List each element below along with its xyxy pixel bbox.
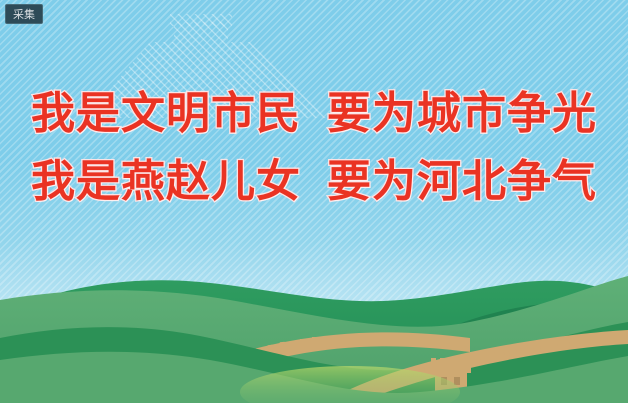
slogan-line-2: 我是燕赵儿女要为河北争气 (0, 160, 628, 204)
slogan-block: 我是文明市民要为城市争光 我是燕赵儿女要为河北争气 (0, 92, 628, 204)
slogan-line-1-left: 我是文明市民 (31, 88, 301, 139)
slogan-line-2-right: 要为河北争气 (327, 156, 597, 207)
capture-button[interactable]: 采集 (5, 4, 43, 24)
slogan-line-2-left: 我是燕赵儿女 (31, 156, 301, 207)
slogan-line-1-right: 要为城市争光 (327, 88, 597, 139)
slogan-line-1: 我是文明市民要为城市争光 (0, 92, 628, 136)
propaganda-banner: 我是文明市民要为城市争光 我是燕赵儿女要为河北争气 采集 (0, 0, 628, 403)
